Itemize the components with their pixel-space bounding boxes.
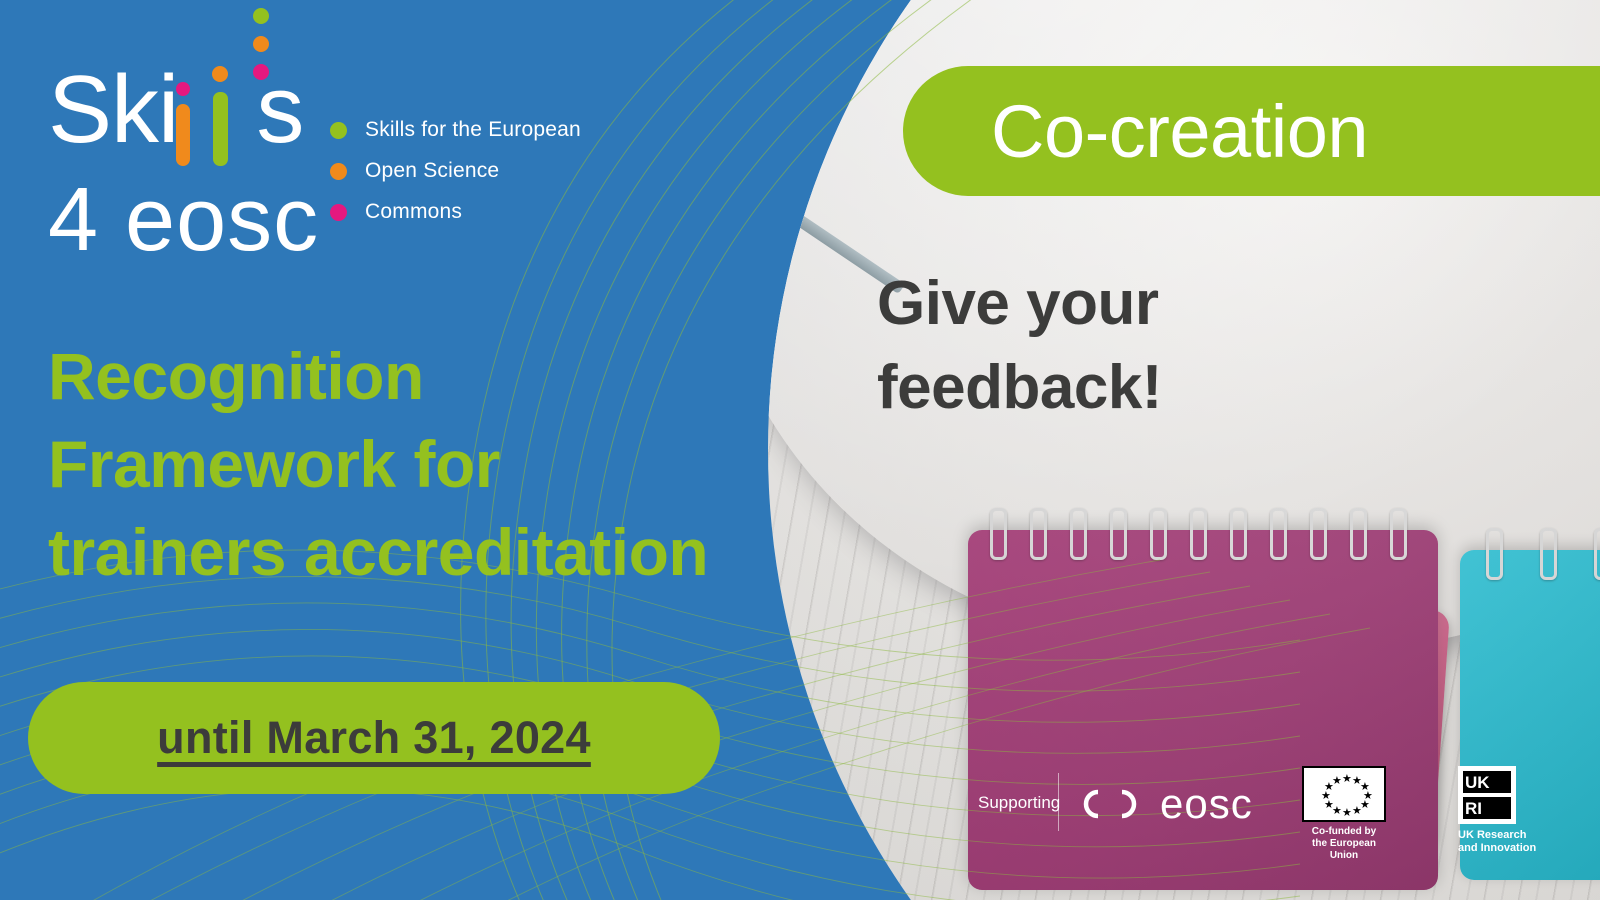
- skills4eosc-logo: Skis 4 eosc: [48, 62, 319, 266]
- logo-dot-pink-small: [176, 82, 190, 96]
- ukri-caption-line-2: and Innovation: [1458, 842, 1578, 855]
- svg-text:RI: RI: [1465, 799, 1482, 818]
- headline-line-2: Framework for: [48, 420, 808, 508]
- bullet-dot-pink-icon: [330, 204, 347, 221]
- tagline-label: Skills for the European: [365, 118, 581, 142]
- co-creation-label: Co-creation: [991, 89, 1368, 174]
- eosc-label: eosc: [1160, 780, 1253, 828]
- logo-text-skills: Ski: [48, 56, 178, 163]
- eu-caption-line-1: Co-funded by: [1302, 826, 1386, 838]
- deadline-badge[interactable]: until March 31, 2024: [28, 682, 720, 794]
- eu-flag-icon: ★ ★ ★ ★ ★ ★ ★ ★ ★ ★ ★ ★: [1302, 766, 1386, 822]
- tagline-label: Open Science: [365, 159, 499, 183]
- ukri-logo-icon: UK RI: [1458, 766, 1516, 824]
- ukri-caption-line-1: UK Research: [1458, 829, 1578, 842]
- eosc-logo: eosc: [1078, 780, 1253, 828]
- eosc-infinity-icon: [1078, 784, 1152, 824]
- feedback-line-2: feedback!: [877, 346, 1162, 430]
- svg-text:UK: UK: [1465, 773, 1490, 792]
- feedback-heading: Give your feedback!: [877, 262, 1162, 430]
- headline-line-3: trainers accreditation: [48, 508, 808, 596]
- footer-divider: [1058, 773, 1059, 831]
- logo-dot-pink-top: [253, 64, 269, 80]
- tagline-item: Open Science: [330, 159, 581, 183]
- tagline-item: Commons: [330, 200, 581, 224]
- logo-dot-green-top: [253, 8, 269, 24]
- bullet-dot-green-icon: [330, 122, 347, 139]
- tagline-list: Skills for the European Open Science Com…: [330, 118, 581, 241]
- logo-dot-orange-top: [253, 36, 269, 52]
- banner-root: Skis 4 eosc Skills for the European Open…: [0, 0, 1600, 900]
- tagline-item: Skills for the European: [330, 118, 581, 142]
- ukri-badge: UK RI UK Research and Innovation: [1458, 766, 1578, 855]
- eu-caption-line-2: the European Union: [1302, 838, 1386, 862]
- logo-bar-orange: [176, 104, 190, 166]
- supporting-label: Supporting: [978, 793, 1060, 813]
- co-creation-banner: Co-creation: [903, 66, 1600, 196]
- feedback-line-1: Give your: [877, 262, 1162, 346]
- logo-dot-orange-mid: [212, 66, 228, 82]
- logo-text-4eosc: 4 eosc: [48, 174, 319, 266]
- bullet-dot-orange-icon: [330, 163, 347, 180]
- logo-bar-green: [213, 92, 228, 166]
- tagline-label: Commons: [365, 200, 462, 224]
- page-title: Recognition Framework for trainers accre…: [48, 332, 808, 596]
- headline-line-1: Recognition: [48, 332, 808, 420]
- eu-funding-badge: ★ ★ ★ ★ ★ ★ ★ ★ ★ ★ ★ ★ Co-funded by the…: [1302, 766, 1386, 862]
- deadline-label: until March 31, 2024: [157, 712, 591, 764]
